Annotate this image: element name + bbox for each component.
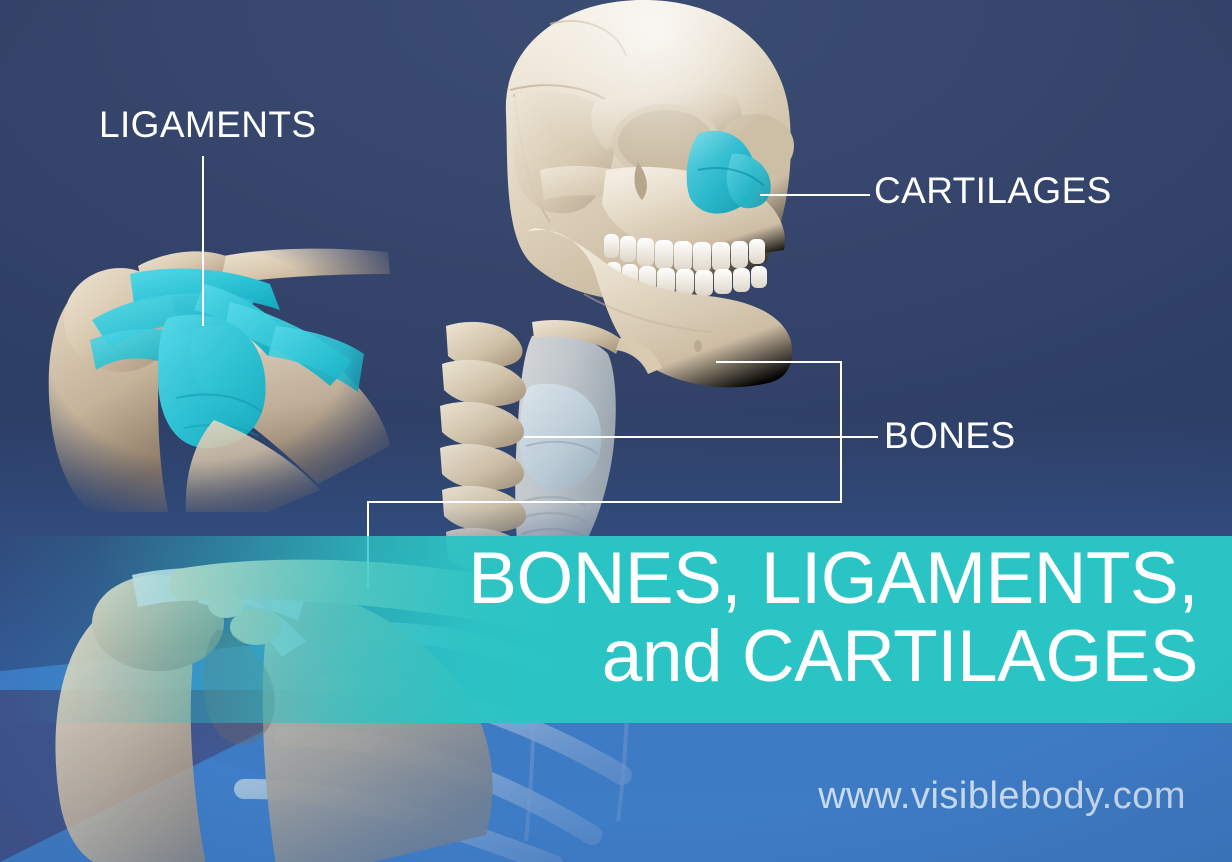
leader-line-bones-label	[840, 436, 878, 438]
leader-line-cartilages	[760, 194, 870, 196]
callout-label-bones: BONES	[884, 417, 1016, 454]
watermark-url: www.visiblebody.com	[818, 775, 1186, 818]
shoulder-ligaments-illustration	[18, 222, 418, 512]
leader-line-ligaments	[202, 156, 204, 326]
leader-line-bones-spine	[840, 361, 842, 503]
callout-label-ligaments: LIGAMENTS	[99, 106, 316, 143]
callout-label-cartilages: CARTILAGES	[874, 172, 1112, 209]
banner-title: BONES, LIGAMENTS, and CARTILAGES	[0, 540, 1198, 720]
infographic-canvas: LIGAMENTS CARTILAGES BONES BONES, LIGAME…	[0, 0, 1232, 862]
leader-line-bones-mid	[524, 436, 840, 438]
leader-line-bones-bottom	[368, 501, 842, 503]
banner-title-line-2: and CARTILAGES	[0, 618, 1198, 696]
banner-title-line-1: BONES, LIGAMENTS,	[0, 540, 1198, 618]
leader-line-bones-top	[716, 361, 842, 363]
